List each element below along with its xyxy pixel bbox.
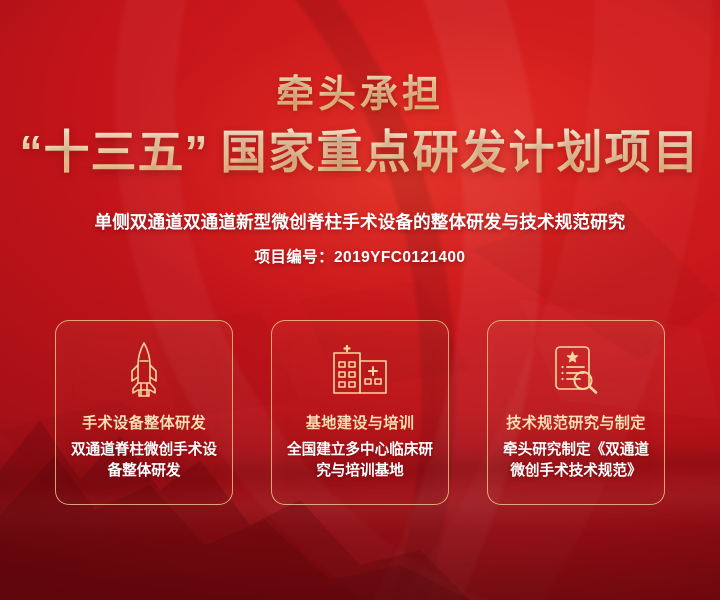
headline-top: 牵头承担 [0,74,720,117]
headline-main-row: “十三五”国家重点研发计划项目 [0,127,720,178]
feature-card-title: 手术设备整体研发 [82,411,206,433]
feature-card-list: 手术设备整体研发 双通道脊柱微创手术设备整体研发 [55,320,665,505]
rocket-icon [124,341,164,399]
headline-block: 牵头承担 “十三五”国家重点研发计划项目 [0,74,720,177]
document-magnifier-icon [550,341,602,399]
project-subtitle: 单侧双通道双通道新型微创脊柱手术设备的整体研发与技术规范研究 [0,209,720,234]
feature-card-desc: 牵头研究制定《双通道微创手术技术规范》 [488,440,664,482]
poster-banner: 牵头承担 “十三五”国家重点研发计划项目 单侧双通道双通道新型微创脊柱手术设备的… [0,0,720,600]
feature-card-equipment[interactable]: 手术设备整体研发 双通道脊柱微创手术设备整体研发 [55,320,233,505]
headline-quoted: “十三五” [20,126,221,178]
feature-card-desc: 双通道脊柱微创手术设备整体研发 [56,440,232,482]
project-number: 项目编号：2019YFC0121400 [0,245,720,267]
feature-card-title: 基地建设与培训 [306,411,414,433]
feature-card-desc: 全国建立多中心临床研究与培训基地 [272,440,448,482]
feature-card-title: 技术规范研究与制定 [506,411,645,433]
feature-card-standards[interactable]: 技术规范研究与制定 牵头研究制定《双通道微创手术技术规范》 [487,320,665,505]
headline-main: 国家重点研发计划项目 [221,126,701,178]
feature-card-training-base[interactable]: 基地建设与培训 全国建立多中心临床研究与培训基地 [271,320,449,505]
hospital-building-icon [332,341,388,399]
